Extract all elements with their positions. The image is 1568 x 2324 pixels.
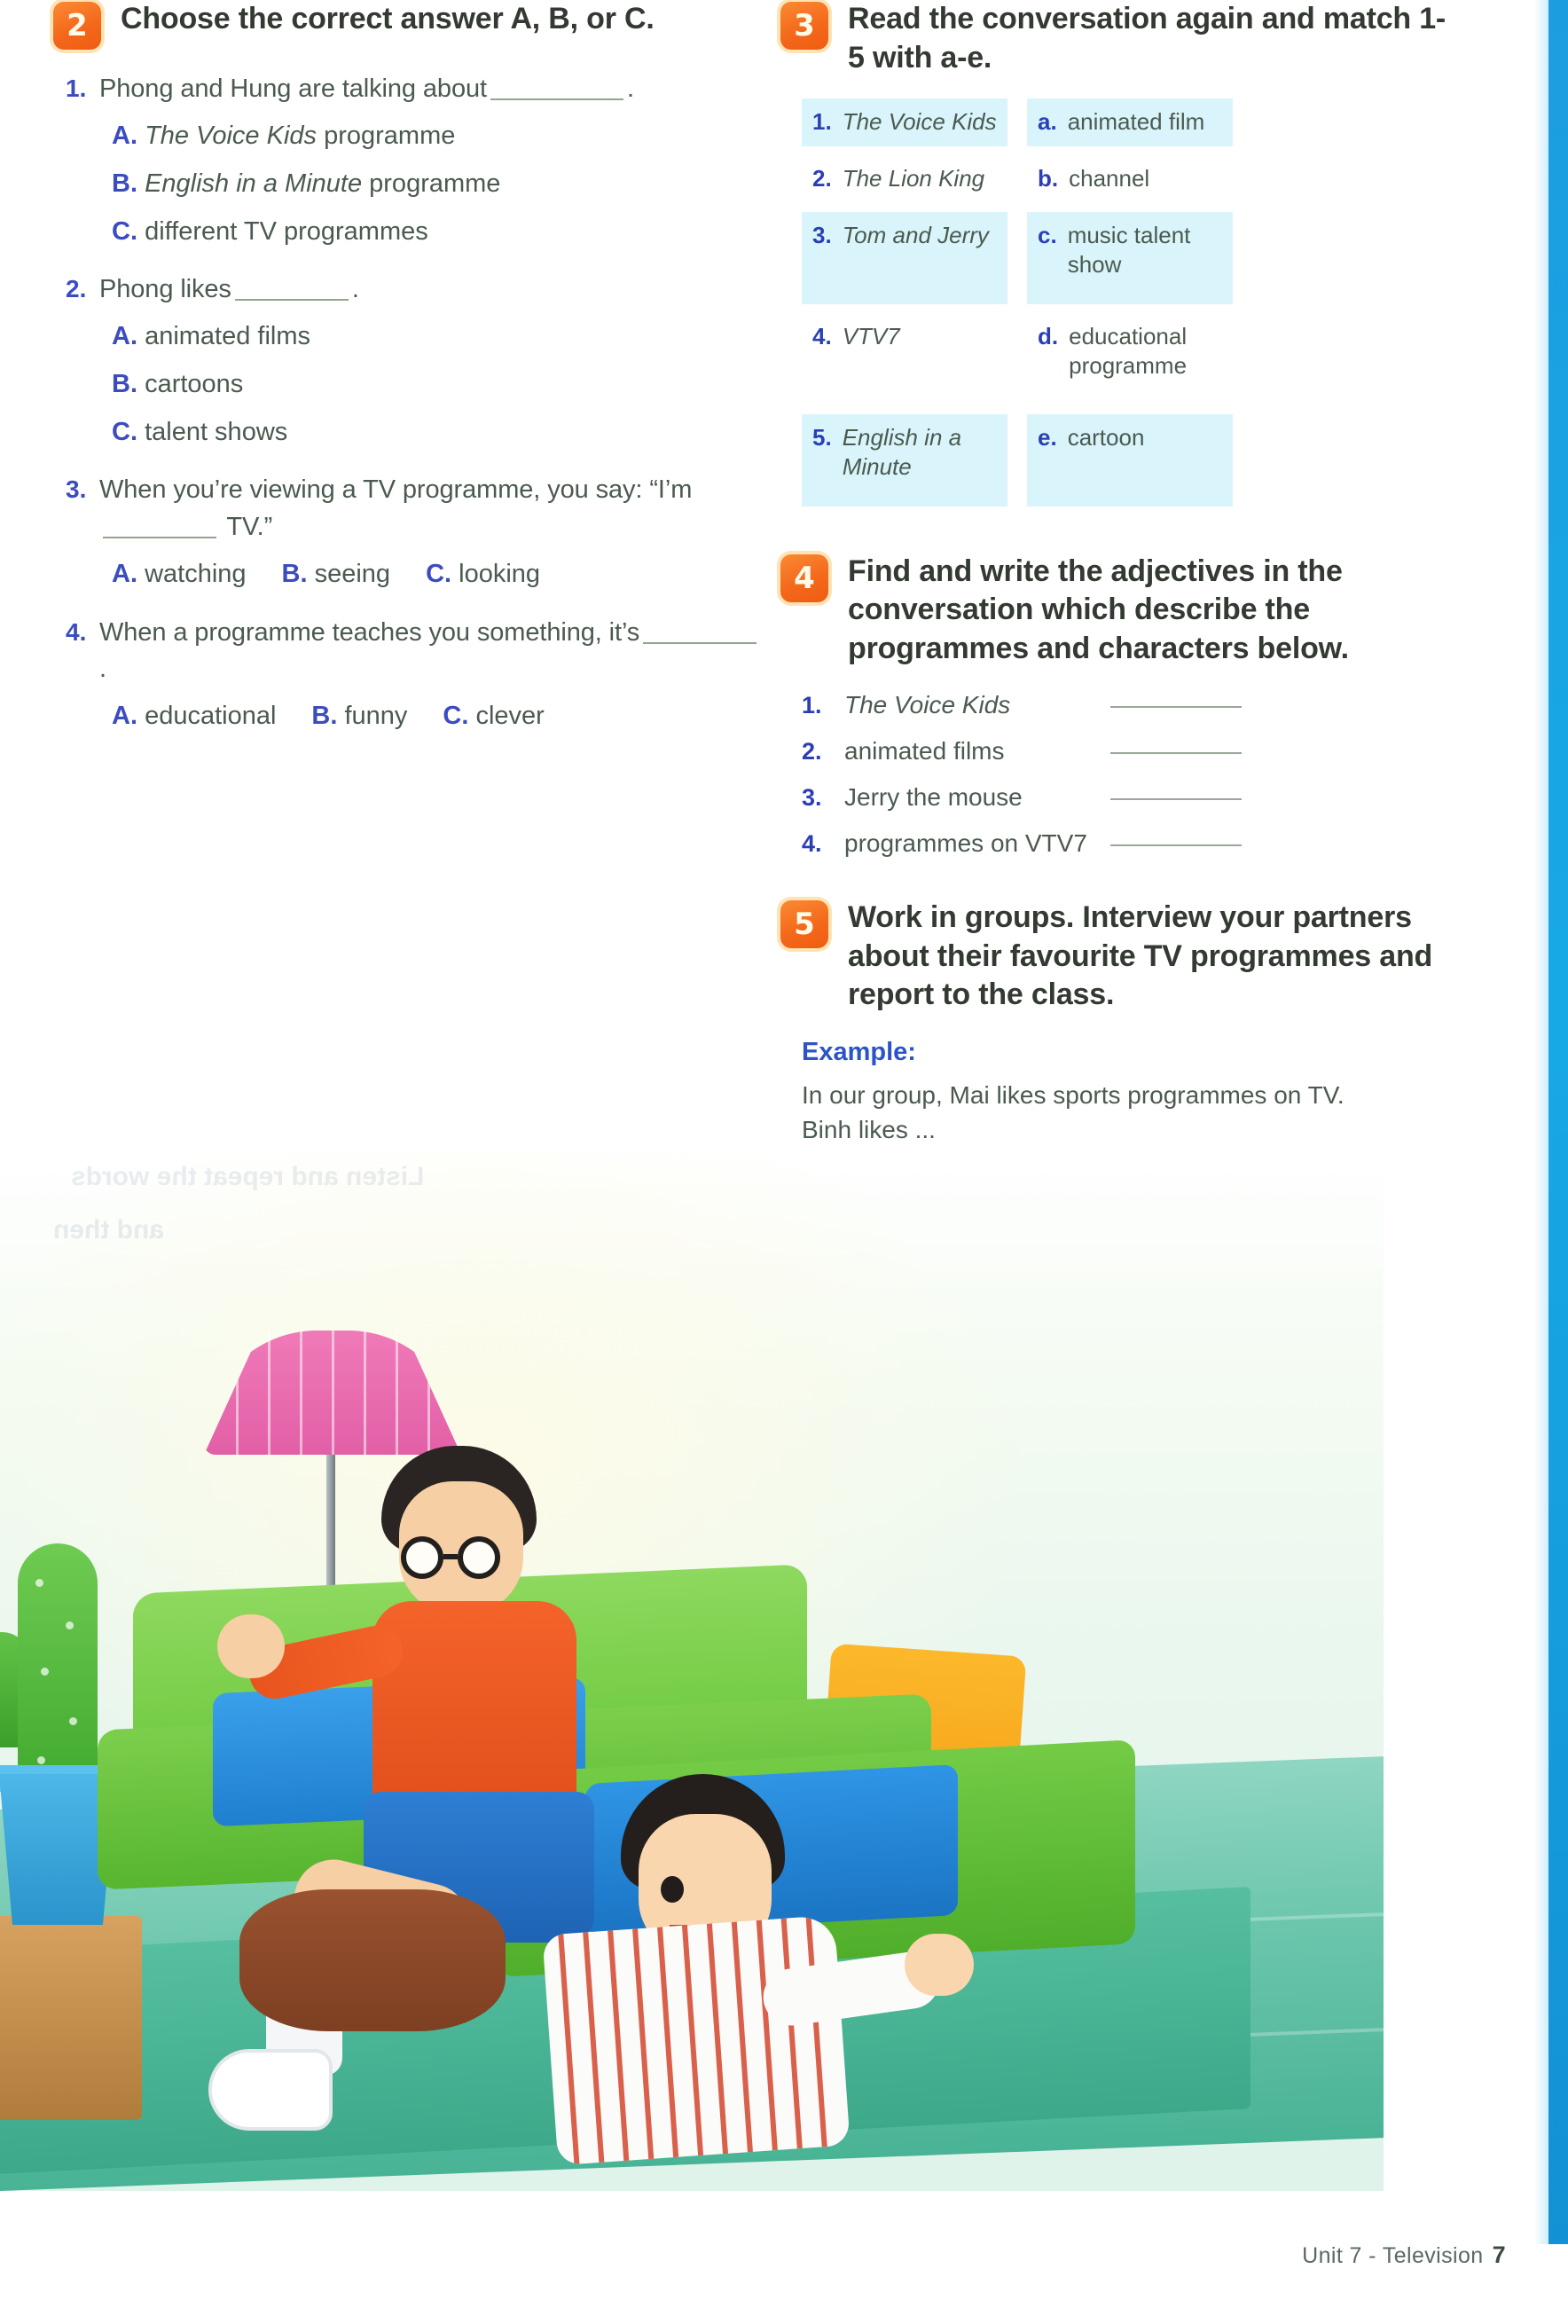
row-text: animated films bbox=[844, 737, 1110, 766]
option-row: A. animated films bbox=[112, 320, 763, 354]
option-c[interactable]: C. different TV programmes bbox=[112, 216, 428, 249]
row-number: 1. bbox=[802, 692, 844, 719]
option-row: C. talent shows bbox=[112, 416, 763, 450]
adjective-row: 1. The Voice Kids bbox=[802, 691, 1454, 719]
item-text: educational programme bbox=[1069, 322, 1224, 396]
question-options: A. animated films B. cartoons C. talent … bbox=[112, 320, 763, 449]
question-tail: TV.” bbox=[220, 513, 272, 541]
page-footer: Unit 7 - Television7 bbox=[1302, 2242, 1506, 2269]
option-text: funny bbox=[344, 702, 407, 730]
item-marker: 4. bbox=[812, 322, 832, 396]
item-text: The Lion King bbox=[843, 164, 984, 194]
match-right-item[interactable]: b.channel bbox=[1027, 155, 1233, 203]
item-text: channel bbox=[1069, 164, 1149, 194]
option-text-rest: programme bbox=[362, 169, 500, 198]
option-letter: C. bbox=[112, 418, 137, 446]
boy1-hand bbox=[217, 1614, 285, 1678]
boy2-hand bbox=[905, 1934, 974, 1996]
option-text: clever bbox=[475, 702, 544, 730]
answer-blank[interactable] bbox=[1110, 844, 1242, 846]
exercise-5-heading: 5 Work in groups. Interview your partner… bbox=[780, 899, 1454, 1015]
option-letter: C. bbox=[443, 702, 468, 730]
exercise-3-badge: 3 bbox=[780, 2, 828, 50]
option-letter: B. bbox=[311, 702, 337, 730]
option-letter: A. bbox=[112, 702, 137, 730]
option-letter: B. bbox=[282, 560, 308, 588]
item-marker: b. bbox=[1038, 164, 1058, 194]
option-text-italic: English in a Minute bbox=[145, 169, 362, 198]
example-label: Example: bbox=[802, 1038, 1454, 1067]
question-text: When you’re viewing a TV programme, you … bbox=[99, 472, 763, 545]
footer-unit-label: Unit 7 - Television bbox=[1302, 2243, 1483, 2268]
question-tail: . bbox=[627, 75, 634, 103]
option-text: animated films bbox=[145, 322, 310, 350]
answer-blank[interactable] bbox=[643, 642, 757, 644]
question-item: 2. Phong likes. bbox=[53, 271, 763, 308]
matching-table: 1.The Voice Kids a.animated film 2.The L… bbox=[802, 98, 1233, 506]
exercise-4-title: Find and write the adjectives in the con… bbox=[848, 553, 1454, 669]
option-a[interactable]: A. watching bbox=[112, 558, 247, 592]
question-stem: Phong and Hung are talking about bbox=[99, 75, 487, 103]
option-letter: B. bbox=[112, 169, 137, 198]
option-text: different TV programmes bbox=[145, 217, 428, 246]
match-left-item[interactable]: 4.VTV7 bbox=[802, 313, 1007, 405]
question-text: When a programme teaches you something, … bbox=[99, 615, 763, 687]
ghost-text: Listen and repeat the words bbox=[71, 1162, 424, 1192]
question-stem: When you’re viewing a TV programme, you … bbox=[99, 475, 692, 504]
example-text: In our group, Mai likes sports programme… bbox=[802, 1078, 1352, 1147]
option-c[interactable]: C. talent shows bbox=[112, 416, 287, 450]
option-letter: A. bbox=[112, 560, 137, 588]
boy2-eye bbox=[661, 1876, 684, 1903]
question-number: 1. bbox=[53, 71, 99, 107]
page-number: 7 bbox=[1493, 2242, 1506, 2268]
option-text: cartoons bbox=[145, 370, 243, 398]
item-marker: c. bbox=[1038, 221, 1057, 295]
question-number: 3. bbox=[53, 472, 99, 545]
left-column: 2 Choose the correct answer A, B, or C. … bbox=[53, 0, 763, 757]
option-letter: A. bbox=[112, 122, 137, 150]
boy1-glasses-right bbox=[458, 1536, 500, 1579]
item-text: cartoon bbox=[1068, 423, 1145, 498]
row-text: Jerry the mouse bbox=[844, 783, 1110, 812]
exercise-4-heading: 4 Find and write the adjectives in the c… bbox=[780, 553, 1454, 669]
question-item: 3. When you’re viewing a TV programme, y… bbox=[53, 472, 763, 545]
item-text: animated film bbox=[1068, 107, 1205, 137]
item-text: music talent show bbox=[1068, 221, 1224, 295]
item-marker: 5. bbox=[812, 423, 832, 498]
question-stem: Phong likes bbox=[99, 275, 231, 303]
illustration-two-boys-on-sofa: Listen and repeat the words and then bbox=[0, 1153, 1384, 2191]
item-marker: e. bbox=[1038, 423, 1057, 498]
row-number: 4. bbox=[802, 830, 844, 858]
adjective-row: 2. animated films bbox=[802, 737, 1454, 766]
match-left-item[interactable]: 1.The Voice Kids bbox=[802, 98, 1007, 146]
match-right-item[interactable]: d.educational programme bbox=[1027, 313, 1233, 405]
item-marker: 3. bbox=[812, 221, 832, 295]
question-item: 1. Phong and Hung are talking about. bbox=[53, 71, 763, 107]
boy1-glasses-bridge bbox=[443, 1554, 458, 1559]
option-row: C. different TV programmes bbox=[112, 216, 763, 249]
option-b[interactable]: B. funny bbox=[311, 700, 407, 734]
exercise-3-heading: 3 Read the conversation again and match … bbox=[780, 0, 1454, 77]
row-text: programmes on VTV7 bbox=[844, 829, 1110, 858]
question-tail: . bbox=[99, 655, 106, 683]
option-letter: B. bbox=[112, 370, 137, 398]
option-a[interactable]: A. animated films bbox=[112, 320, 310, 354]
item-text: Tom and Jerry bbox=[843, 221, 989, 295]
question-number: 4. bbox=[53, 615, 99, 687]
option-c[interactable]: C. clever bbox=[443, 700, 544, 734]
option-row: A. educational B. funny C. clever bbox=[112, 700, 763, 734]
option-text: watching bbox=[145, 560, 246, 588]
question-text: Phong and Hung are talking about. bbox=[99, 71, 634, 107]
boy2-striped-shirt bbox=[542, 1915, 850, 2165]
option-letter: A. bbox=[112, 322, 137, 350]
item-marker: a. bbox=[1038, 107, 1057, 137]
match-left-item[interactable]: 2.The Lion King bbox=[802, 155, 1007, 203]
ghost-text: and then bbox=[53, 1215, 164, 1245]
question-number: 2. bbox=[53, 271, 99, 308]
exercise-4-list: 1. The Voice Kids 2. animated films 3. J… bbox=[802, 691, 1454, 858]
page-spine bbox=[1548, 0, 1568, 2244]
match-right-item[interactable]: a.animated film bbox=[1027, 98, 1233, 146]
option-text: talent shows bbox=[145, 418, 287, 446]
item-text: English in a Minute bbox=[843, 423, 999, 498]
exercise-3-title: Read the conversation again and match 1-… bbox=[848, 0, 1454, 77]
question-item: 4. When a programme teaches you somethin… bbox=[53, 615, 763, 687]
option-row: A. The Voice Kids programme bbox=[112, 120, 763, 153]
option-b[interactable]: B. English in a Minute programme bbox=[112, 168, 500, 201]
exercise-2-heading: 2 Choose the correct answer A, B, or C. bbox=[53, 0, 763, 48]
option-a[interactable]: A. The Voice Kids programme bbox=[112, 120, 455, 153]
option-text-italic: The Voice Kids bbox=[145, 122, 317, 150]
right-column: 3 Read the conversation again and match … bbox=[780, 0, 1454, 1147]
question-options: A. watching B. seeing C. looking bbox=[112, 558, 763, 592]
option-c[interactable]: C. looking bbox=[426, 558, 540, 592]
option-a[interactable]: A. educational bbox=[112, 700, 276, 734]
option-b[interactable]: B. seeing bbox=[282, 558, 391, 592]
boy1-shoe bbox=[208, 2049, 333, 2131]
item-marker: 1. bbox=[812, 107, 832, 137]
row-number: 2. bbox=[802, 738, 844, 766]
answer-blank[interactable] bbox=[103, 537, 216, 538]
option-letter: C. bbox=[426, 560, 451, 588]
option-b[interactable]: B. cartoons bbox=[112, 368, 243, 402]
cactus bbox=[18, 1543, 98, 1801]
question-tail: . bbox=[352, 275, 359, 303]
match-left-item[interactable]: 5.English in a Minute bbox=[802, 414, 1007, 506]
match-left-item[interactable]: 3.Tom and Jerry bbox=[802, 212, 1007, 304]
match-right-item[interactable]: e.cartoon bbox=[1027, 414, 1233, 506]
option-row: B. cartoons bbox=[112, 368, 763, 402]
item-text: The Voice Kids bbox=[843, 107, 997, 137]
boy1-shirt bbox=[372, 1601, 576, 1823]
item-marker: 2. bbox=[812, 164, 832, 194]
question-stem: When a programme teaches you something, … bbox=[99, 618, 639, 647]
option-text: educational bbox=[145, 702, 276, 730]
row-text: The Voice Kids bbox=[844, 691, 1110, 719]
exercise-2-question-list: 1. Phong and Hung are talking about. A. … bbox=[53, 71, 763, 734]
item-text: VTV7 bbox=[843, 322, 900, 396]
textbook-page: 2 Choose the correct answer A, B, or C. … bbox=[0, 0, 1568, 2324]
exercise-2-badge: 2 bbox=[53, 2, 101, 50]
exercise-5-badge: 5 bbox=[780, 900, 828, 948]
option-row: B. English in a Minute programme bbox=[112, 168, 763, 201]
adjective-row: 3. Jerry the mouse bbox=[802, 783, 1454, 812]
option-text: seeing bbox=[315, 560, 390, 588]
question-options: A. educational B. funny C. clever bbox=[112, 700, 763, 734]
answer-blank[interactable] bbox=[1110, 706, 1242, 708]
exercise-4-badge: 4 bbox=[780, 554, 828, 602]
match-right-item[interactable]: c.music talent show bbox=[1027, 212, 1233, 304]
item-marker: d. bbox=[1038, 322, 1058, 396]
boy1-glasses-left bbox=[401, 1536, 443, 1579]
row-number: 3. bbox=[802, 784, 844, 812]
answer-blank[interactable] bbox=[490, 98, 623, 100]
option-text: looking bbox=[459, 560, 540, 588]
adjective-row: 4. programmes on VTV7 bbox=[802, 829, 1454, 858]
answer-blank[interactable] bbox=[1110, 798, 1242, 800]
exercise-2-title: Choose the correct answer A, B, or C. bbox=[121, 0, 655, 39]
side-table bbox=[0, 1916, 142, 2120]
page-spine-gradient bbox=[1534, 0, 1548, 2244]
option-row: A. watching B. seeing C. looking bbox=[112, 558, 763, 592]
question-options: A. The Voice Kids programme B. English i… bbox=[112, 120, 763, 248]
answer-blank[interactable] bbox=[1110, 752, 1242, 754]
cushion-brown bbox=[239, 1889, 506, 2031]
option-text-rest: programme bbox=[317, 122, 455, 150]
option-letter: C. bbox=[112, 217, 137, 246]
answer-blank[interactable] bbox=[235, 299, 349, 301]
question-text: Phong likes. bbox=[99, 271, 359, 308]
exercise-5-title: Work in groups. Interview your partners … bbox=[848, 899, 1454, 1015]
